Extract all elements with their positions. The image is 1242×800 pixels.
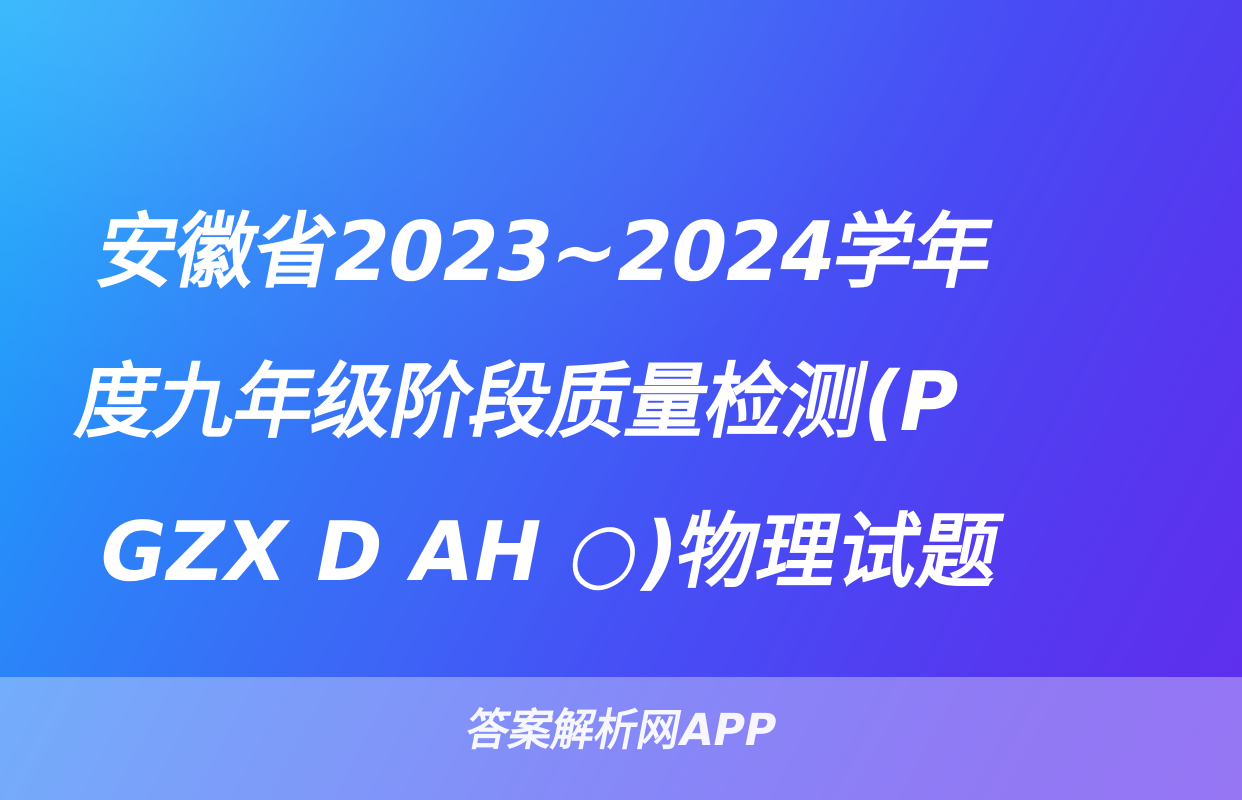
exam-cover-banner: 安徽省2023~2024学年 度九年级阶段质量检测(P GZX D AH ○)物… — [0, 0, 1242, 800]
app-watermark: 答案解析网APP — [0, 702, 1242, 760]
title-line-1: 安徽省2023~2024学年 — [83, 178, 1168, 328]
app-watermark-label: 答案解析网APP — [461, 702, 781, 760]
banner-title: 安徽省2023~2024学年 度九年级阶段质量检测(P GZX D AH ○)物… — [0, 178, 1242, 628]
title-line-2: 度九年级阶段质量检测(P — [63, 328, 1167, 478]
title-line-3: GZX D AH ○)物理试题 — [85, 478, 1168, 628]
